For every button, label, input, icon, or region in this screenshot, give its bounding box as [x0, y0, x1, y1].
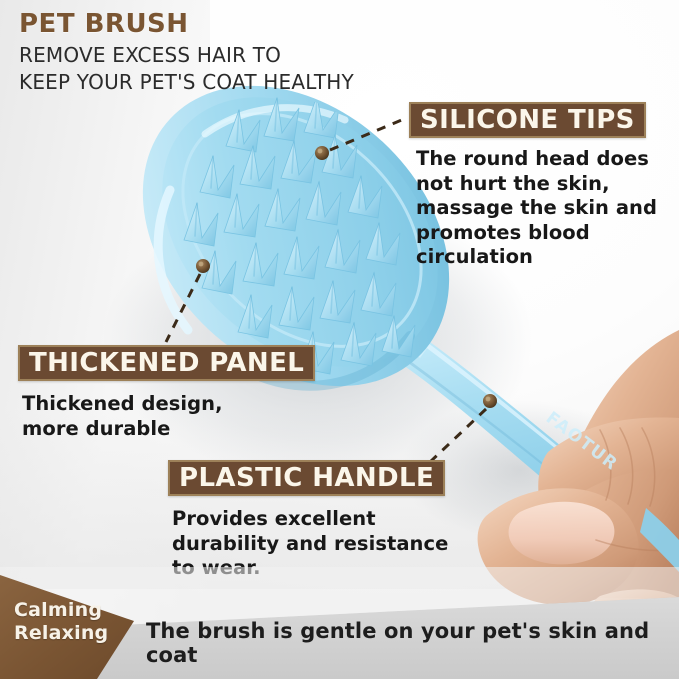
header-block: PET BRUSH REMOVE EXCESS HAIR TO KEEP YOU…	[19, 8, 459, 96]
bottom-banner: Calming Relaxing The brush is gentle on …	[0, 567, 679, 679]
callout-badge-silicone-tips: SILICONE TIPS	[409, 102, 646, 138]
connector-line-plastic	[430, 409, 486, 462]
callout-badge-thickened-panel: THICKENED PANEL	[18, 345, 315, 381]
banner-tag-line-1: Calming	[14, 599, 108, 622]
callout-description-silicone-tips: The round head does not hurt the skin, m…	[416, 147, 668, 270]
connector-line-thickened	[166, 274, 200, 342]
banner-tag-text: Calming Relaxing	[14, 599, 108, 645]
banner-tag-line-2: Relaxing	[14, 622, 108, 645]
callout-badge-plastic-handle: PLASTIC HANDLE	[168, 460, 445, 496]
infographic-canvas: FAOTUR PET BRUSH REMOVE EXCESS HAIR TO K…	[0, 0, 679, 679]
brand-emboss: FAOTUR	[542, 408, 622, 475]
callout-description-thickened-panel: Thickened design, more durable	[22, 392, 272, 441]
page-title: PET BRUSH	[19, 8, 459, 41]
banner-message: The brush is gentle on your pet's skin a…	[146, 619, 679, 667]
connector-dot-thickened	[196, 259, 210, 273]
silicone-bristles	[184, 96, 415, 374]
header-subtitle-line-2: KEEP YOUR PET'S COAT HEALTHY	[19, 70, 459, 96]
connector-dot-plastic	[483, 394, 497, 408]
connector-line-silicone	[330, 119, 404, 150]
header-subtitle-line-1: REMOVE EXCESS HAIR TO	[19, 43, 459, 69]
connector-dot-silicone	[315, 146, 329, 160]
